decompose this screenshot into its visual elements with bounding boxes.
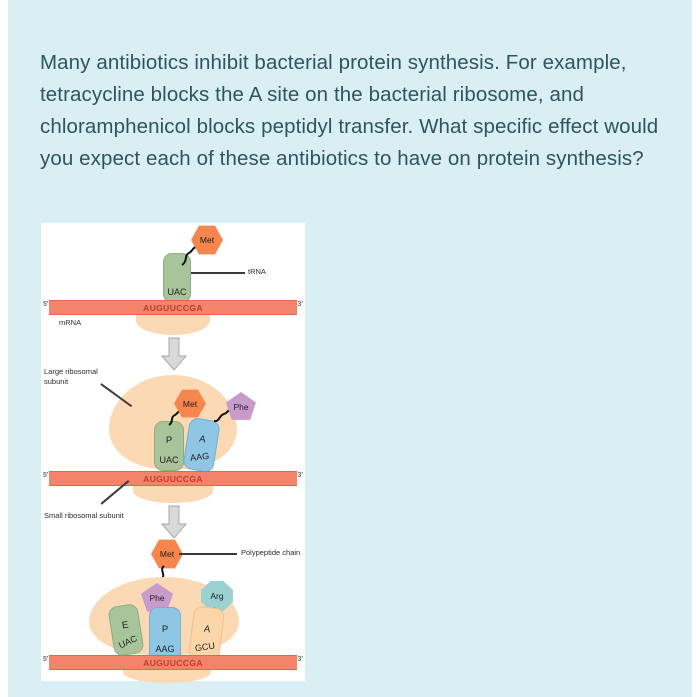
trna-label: tRNA bbox=[248, 267, 266, 277]
mrna-3-prime-label: 3' bbox=[297, 301, 303, 308]
mrna-5-prime-label: 5' bbox=[43, 472, 49, 479]
anticodon-label-p: AAG bbox=[150, 644, 180, 654]
mrna-3-prime-label: 3' bbox=[297, 656, 303, 663]
diagram-panel-translocation: Small ribosomal subunit Met Polypeptide … bbox=[41, 503, 305, 681]
mrna-sequence: AUGUUCCGA bbox=[49, 656, 297, 671]
mrna-sequence: AUGUUCCGA bbox=[49, 472, 297, 487]
translation-diagram: UAC Met tRNA AUGUUCCGA 5' 3' mRNA bbox=[41, 223, 305, 681]
screenshot-root: Many antibiotics inhibit bacterial prote… bbox=[0, 0, 700, 697]
anticodon-label-a: GCU bbox=[190, 640, 220, 654]
question-text: Many antibiotics inhibit bacterial prote… bbox=[40, 47, 672, 175]
anticodon-label-e: UAC bbox=[113, 631, 143, 652]
site-label-p: P bbox=[150, 624, 180, 635]
trna-a-site: A AAG bbox=[182, 417, 221, 473]
site-label-p: P bbox=[155, 435, 183, 446]
trna-p-site: P UAC bbox=[154, 421, 184, 471]
polypeptide-leader-line bbox=[179, 553, 237, 555]
polypeptide-chain-label: Polypeptide chain bbox=[241, 548, 300, 558]
down-arrow-icon bbox=[161, 337, 187, 371]
mrna-strand: AUGUUCCGA bbox=[49, 300, 297, 315]
anticodon-label: UAC bbox=[164, 287, 190, 297]
content-sheet: Many antibiotics inhibit bacterial prote… bbox=[8, 0, 692, 697]
site-label-e: E bbox=[111, 618, 140, 633]
mrna-label: mRNA bbox=[59, 318, 81, 328]
trna-leader-line bbox=[191, 272, 245, 274]
mrna-strand: AUGUUCCGA bbox=[49, 471, 297, 486]
diagram-panel-initiation: UAC Met tRNA AUGUUCCGA 5' 3' mRNA bbox=[41, 223, 305, 335]
diagram-panel-elongation: P UAC Met A AAG Phe Large bbox=[41, 335, 305, 503]
mrna-3-prime-label: 3' bbox=[297, 472, 303, 479]
down-arrow-icon bbox=[161, 505, 187, 539]
mrna-sequence: AUGUUCCGA bbox=[49, 301, 297, 316]
site-label-a: A bbox=[192, 622, 222, 636]
anticodon-label-a: AAG bbox=[185, 450, 215, 463]
site-label-a: A bbox=[187, 432, 217, 447]
mrna-strand: AUGUUCCGA bbox=[49, 655, 297, 670]
small-subunit-label: Small ribosomal subunit bbox=[44, 511, 124, 521]
large-subunit-label: Large ribosomal subunit bbox=[44, 367, 124, 386]
anticodon-label-p: UAC bbox=[155, 455, 183, 465]
mrna-5-prime-label: 5' bbox=[43, 656, 49, 663]
mrna-5-prime-label: 5' bbox=[43, 301, 49, 308]
